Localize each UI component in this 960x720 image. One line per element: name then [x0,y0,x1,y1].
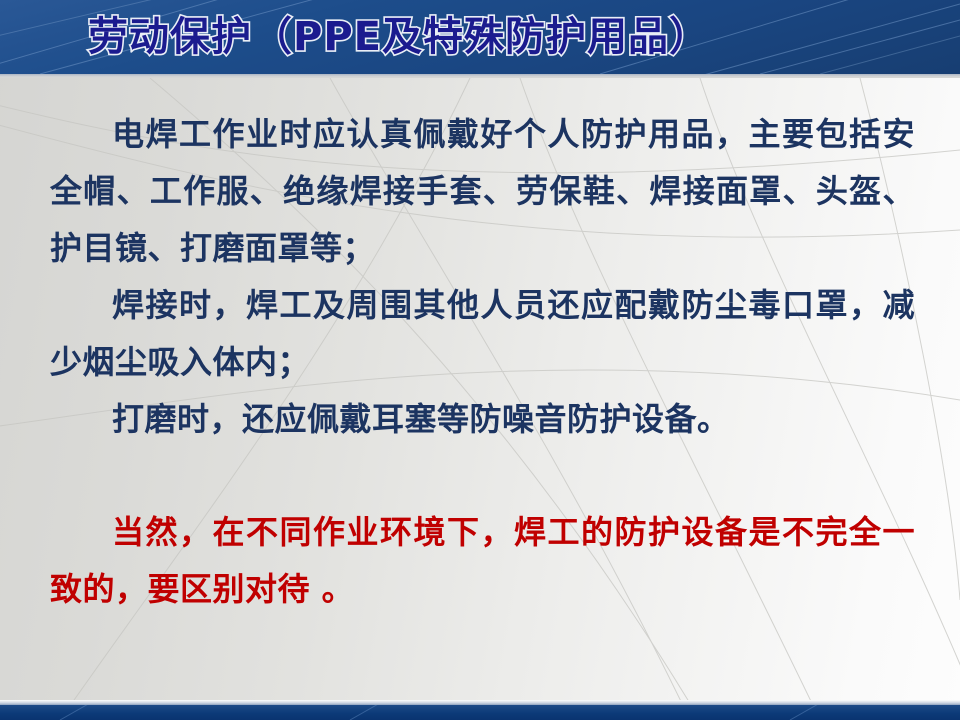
paragraph-ppe-list: 电焊工作业时应认真佩戴好个人防护用品，主要包括安全帽、工作服、绝缘焊接手套、劳保… [50,106,915,277]
paragraph-environment-note: 当然，在不同作业环境下，焊工的防护设备是不完全一致的，要区别对待 。 [50,504,915,618]
footer-decoration-lines [0,705,960,720]
page-title: 劳动保护（PPE及特殊防护用品） [88,11,710,63]
paragraph-grinding-earplug: 打磨时，还应佩戴耳塞等防噪音防护设备。 [50,391,915,448]
paragraph-welding-mask: 焊接时，焊工及周围其他人员还应配戴防尘毒口罩，减少烟尘吸入体内； [50,277,915,391]
banner-bottom-edge [0,74,960,78]
presentation-slide: 劳动保护（PPE及特殊防护用品） 电焊工作业时应认真佩戴好个人防护用品，主要包括… [0,0,960,720]
slide-body-content: 电焊工作业时应认真佩戴好个人防护用品，主要包括安全帽、工作服、绝缘焊接手套、劳保… [50,106,915,618]
slide-footer-bar [0,705,960,720]
